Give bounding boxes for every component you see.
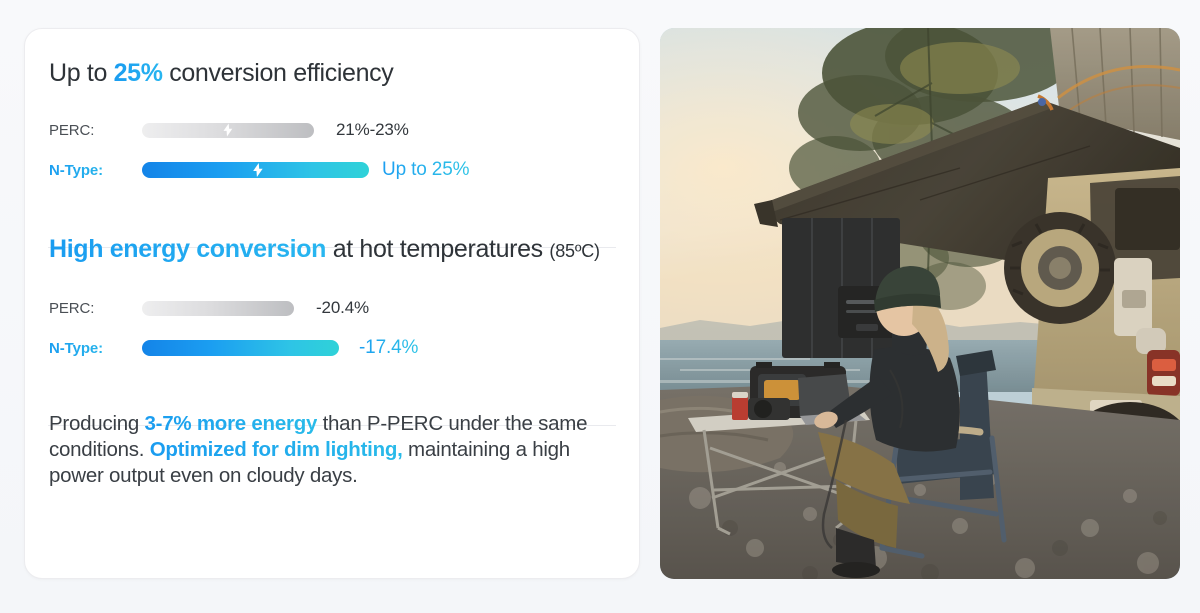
- heading-temperature-note: (85ºC): [549, 241, 599, 261]
- spec-card: Up to 25% conversion efficiency PERC: 21…: [24, 28, 640, 579]
- bar-track-ntype: [142, 162, 369, 178]
- section-conversion-efficiency: Up to 25% conversion efficiency PERC: 21…: [49, 57, 615, 185]
- bar-label-perc: PERC:: [49, 122, 142, 139]
- section-heading-hot-temperature: High energy conversion at hot temperatur…: [49, 233, 615, 267]
- bar-row-perc: PERC: -20.4%: [49, 293, 615, 323]
- bar-label-perc: PERC:: [49, 300, 142, 317]
- bar-track-perc: [142, 123, 314, 138]
- heading-accent-phrase: High energy conversion: [49, 235, 326, 263]
- bar-label-ntype: N-Type:: [49, 162, 142, 179]
- photo-illustration: [660, 28, 1180, 579]
- summary-highlight-2: Optimized for dim lighting,: [150, 438, 403, 461]
- lifestyle-photo: [660, 28, 1180, 579]
- heading-accent-value: 25%: [114, 59, 163, 87]
- section-hot-temperature: High energy conversion at hot temperatur…: [49, 233, 615, 363]
- bar-value-ntype: Up to 25%: [382, 159, 469, 181]
- section-heading-conversion-efficiency: Up to 25% conversion efficiency: [49, 57, 615, 89]
- bar-value-perc: -20.4%: [316, 298, 369, 318]
- bar-rows-conversion-efficiency: PERC: 21%-23% N-Type:: [49, 115, 615, 185]
- summary-paragraph: Producing 3-7% more energy than P-PERC u…: [49, 411, 597, 489]
- bar-row-perc: PERC: 21%-23%: [49, 115, 615, 145]
- heading-suffix: at hot temperatures: [326, 235, 549, 263]
- lightning-bolt-icon: [224, 124, 233, 137]
- summary-highlight-1: 3-7% more energy: [145, 412, 318, 435]
- bar-value-ntype: -17.4%: [359, 337, 418, 359]
- summary-part-1: Producing: [49, 412, 145, 435]
- bar-rows-hot-temperature: PERC: -20.4% N-Type: -17.4%: [49, 293, 615, 363]
- bar-label-ntype: N-Type:: [49, 340, 142, 357]
- bar-row-ntype: N-Type: Up to 25%: [49, 155, 615, 185]
- section-summary: Producing 3-7% more energy than P-PERC u…: [49, 411, 615, 489]
- bar-row-ntype: N-Type: -17.4%: [49, 333, 615, 363]
- bar-track-perc: [142, 301, 294, 316]
- bar-value-perc: 21%-23%: [336, 120, 409, 140]
- heading-suffix: conversion efficiency: [163, 59, 394, 87]
- page-root: Up to 25% conversion efficiency PERC: 21…: [0, 0, 1200, 613]
- bar-track-ntype: [142, 340, 339, 356]
- lightning-bolt-icon: [253, 163, 263, 177]
- heading-prefix: Up to: [49, 59, 114, 87]
